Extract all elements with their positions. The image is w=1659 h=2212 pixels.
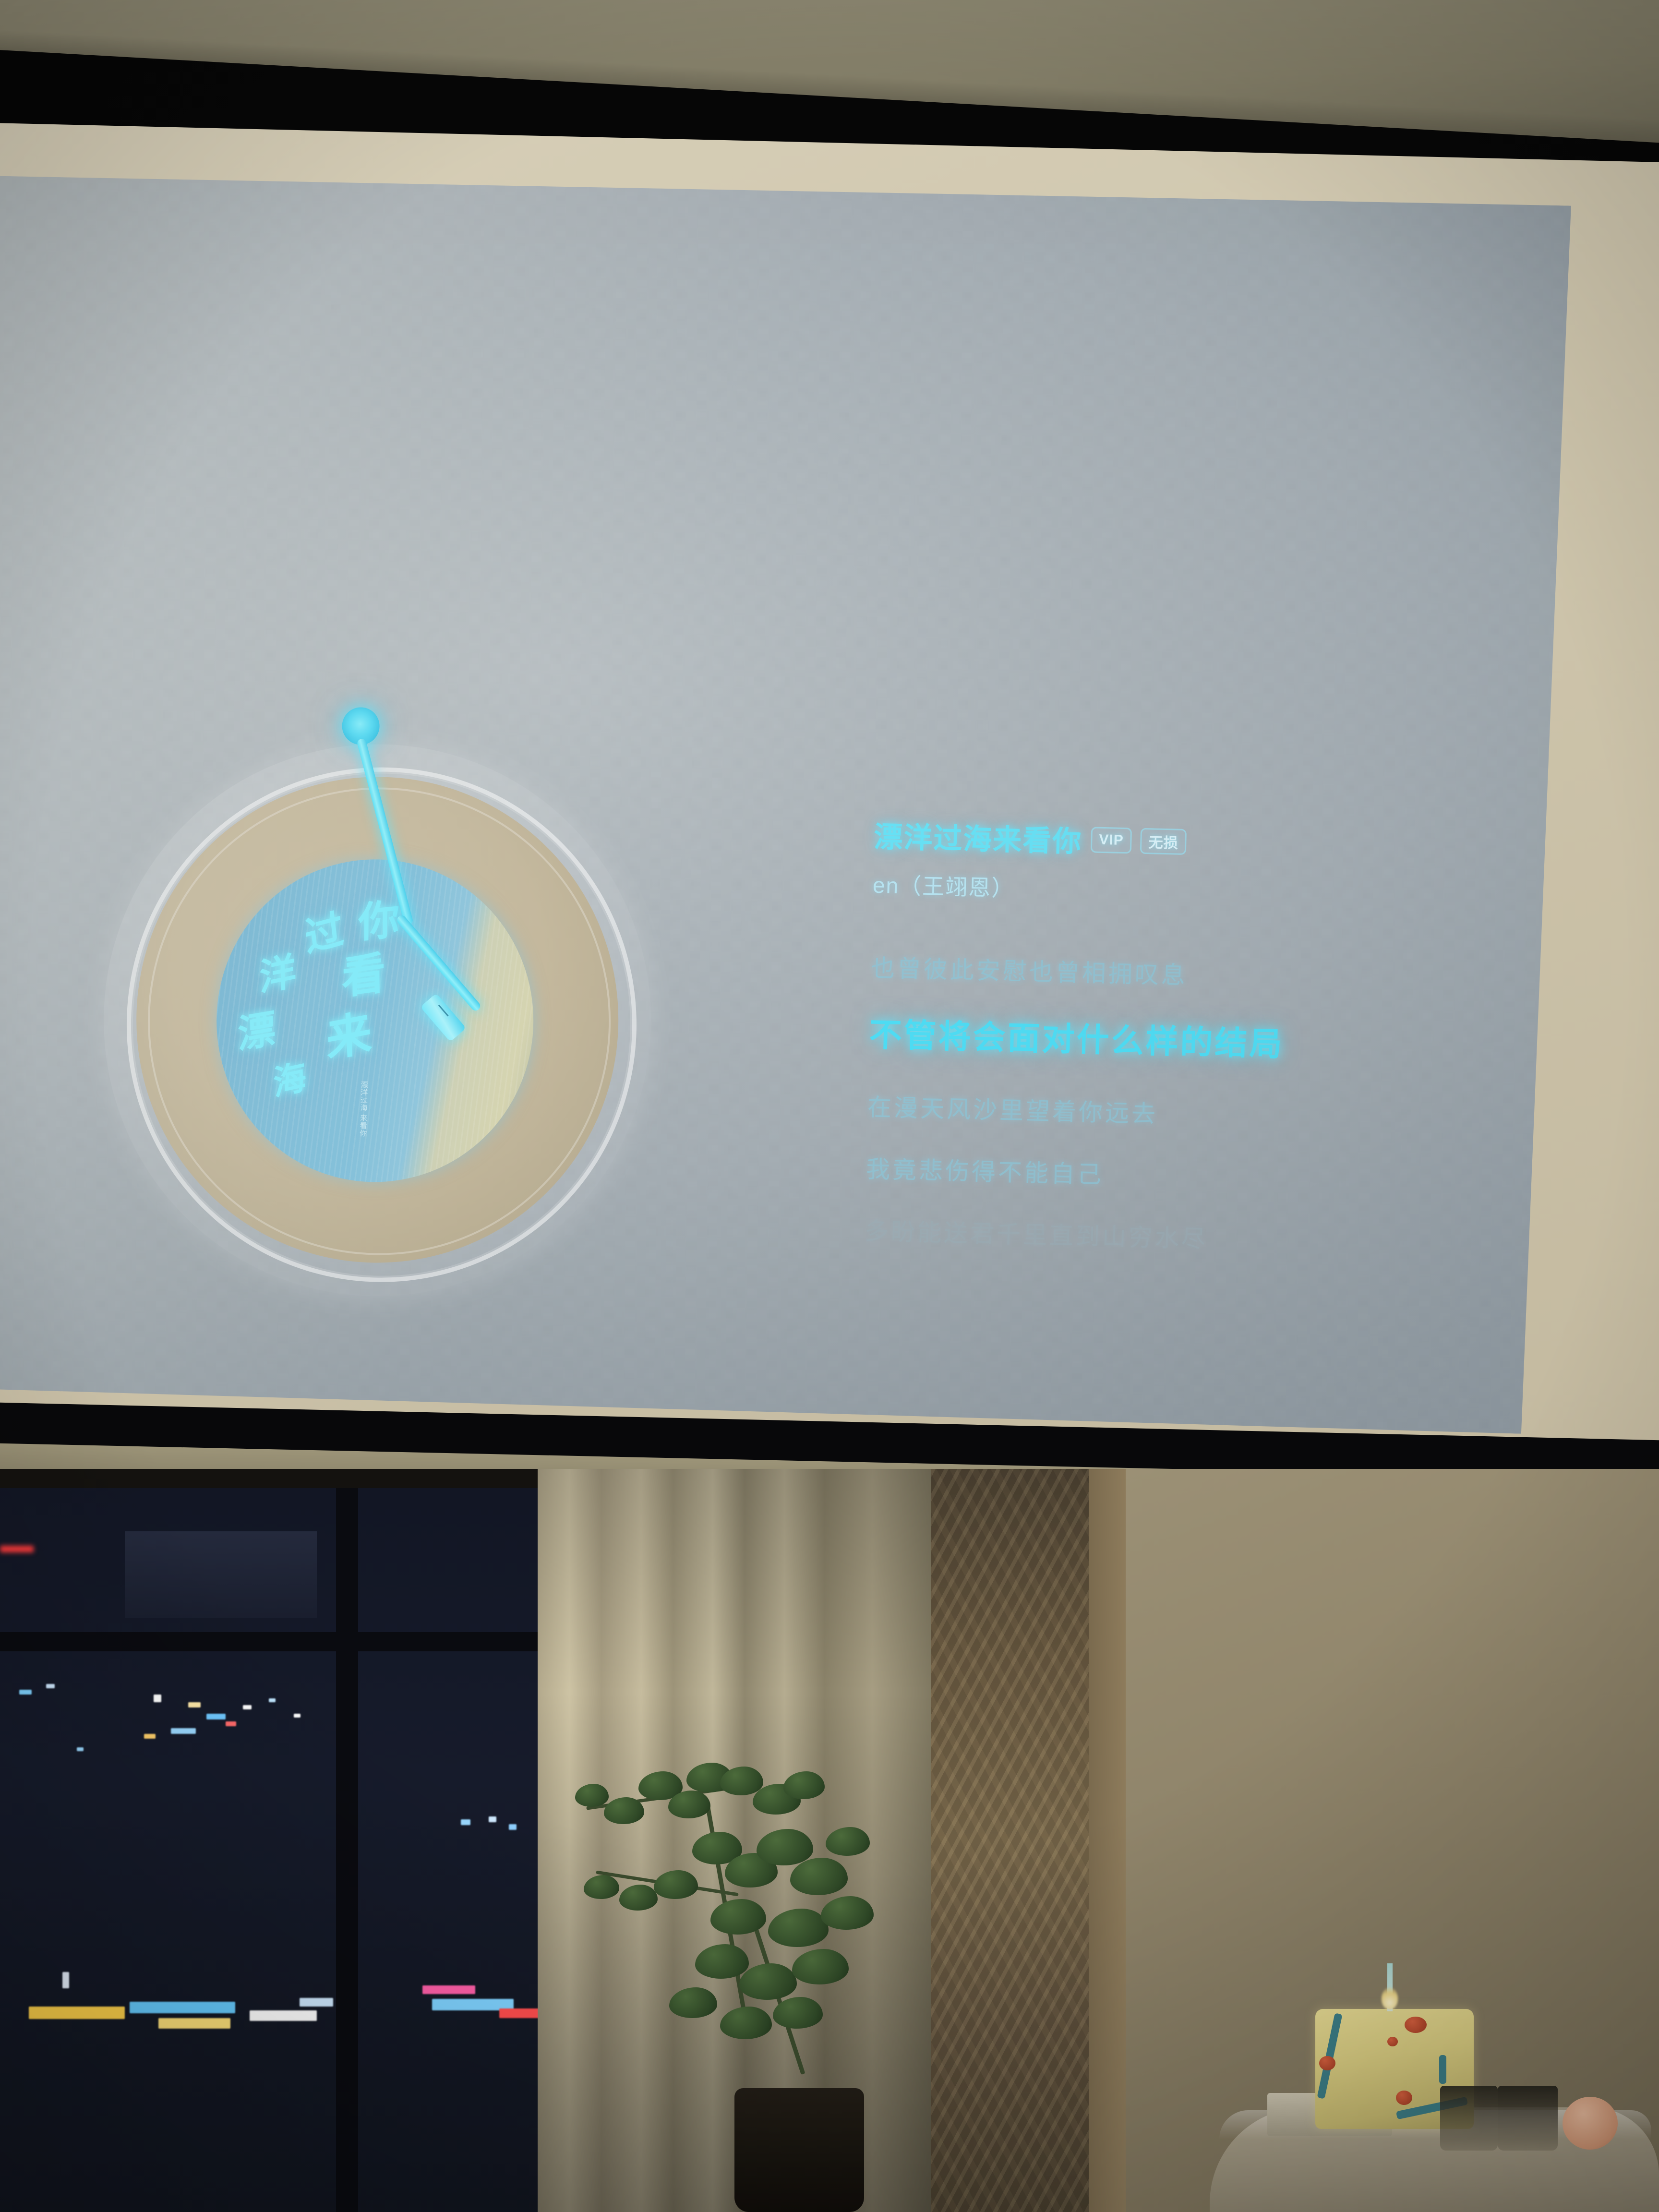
vip-badge: VIP xyxy=(1091,827,1132,854)
title-row: 漂洋过海来看你 VIP 无损 xyxy=(874,814,1527,871)
potted-plant xyxy=(566,1738,922,2074)
fruit xyxy=(1563,2097,1618,2150)
album-calligraphy-char: 洋 xyxy=(259,940,297,1002)
lyrics-list[interactable]: 也曾彼此安慰也曾相拥叹息 不管将会面对什么样的结局 在漫天风沙里望着你远去 我竟… xyxy=(864,955,1524,1260)
drinking-glass xyxy=(1498,2086,1558,2151)
lyric-line[interactable]: 在漫天风沙里望着你远去 xyxy=(867,1094,1521,1136)
lossless-badge: 无损 xyxy=(1140,828,1187,854)
lyric-line-active[interactable]: 不管将会面对什么样的结局 xyxy=(869,1017,1522,1069)
city-lights xyxy=(0,1488,566,2212)
night-window xyxy=(0,1488,566,2212)
pillar-edge xyxy=(1089,1469,1127,2212)
stone-pillar xyxy=(931,1469,1090,2212)
track-info-panel: 漂洋过海来看你 VIP 无损 en（王翊恩） 也曾彼此安慰也曾相拥叹息 不管将会… xyxy=(864,814,1527,1296)
album-calligraphy-char: 来 xyxy=(325,995,373,1070)
song-title: 漂洋过海来看你 xyxy=(874,814,1083,860)
photo-stage: 过 洋 漂 你 看 来 海 漂洋过海 来看你 漂洋过海来看你 xyxy=(0,0,1659,2212)
window-mullion-horizontal xyxy=(0,1632,566,1651)
album-calligraphy-char: 海 xyxy=(272,1049,308,1106)
lyric-line[interactable]: 也曾彼此安慰也曾相拥叹息 xyxy=(870,955,1524,997)
projected-image: 过 洋 漂 你 看 来 海 漂洋过海 来看你 漂洋过海来看你 xyxy=(0,168,1611,1435)
artist-name: en（王翊恩） xyxy=(872,868,1526,915)
album-art[interactable]: 过 洋 漂 你 看 来 海 漂洋过海 来看你 xyxy=(213,856,537,1186)
room-lower-half xyxy=(0,1469,1659,2212)
stone-veining xyxy=(931,1469,1090,2212)
turntable-widget[interactable]: 过 洋 漂 你 看 来 海 漂洋过海 来看你 xyxy=(68,685,707,1323)
window-mullion-vertical xyxy=(336,1488,358,2212)
lyric-line-upcoming[interactable]: 多盼能送君千里直到山穷水尽 xyxy=(864,1218,1517,1260)
candle-flame-icon xyxy=(1382,1987,1398,2009)
album-calligraphy-char: 漂 xyxy=(238,997,276,1060)
album-art-caption: 漂洋过海 来看你 xyxy=(358,1081,368,1138)
drinking-glass xyxy=(1440,2086,1498,2151)
album-calligraphy-char: 过 xyxy=(301,896,346,963)
lyric-line[interactable]: 我竟悲伤得不能自己 xyxy=(866,1156,1519,1198)
projector-screen: 过 洋 漂 你 看 来 海 漂洋过海 来看你 漂洋过海来看你 xyxy=(0,122,1659,1498)
plant-pot xyxy=(734,2088,864,2212)
